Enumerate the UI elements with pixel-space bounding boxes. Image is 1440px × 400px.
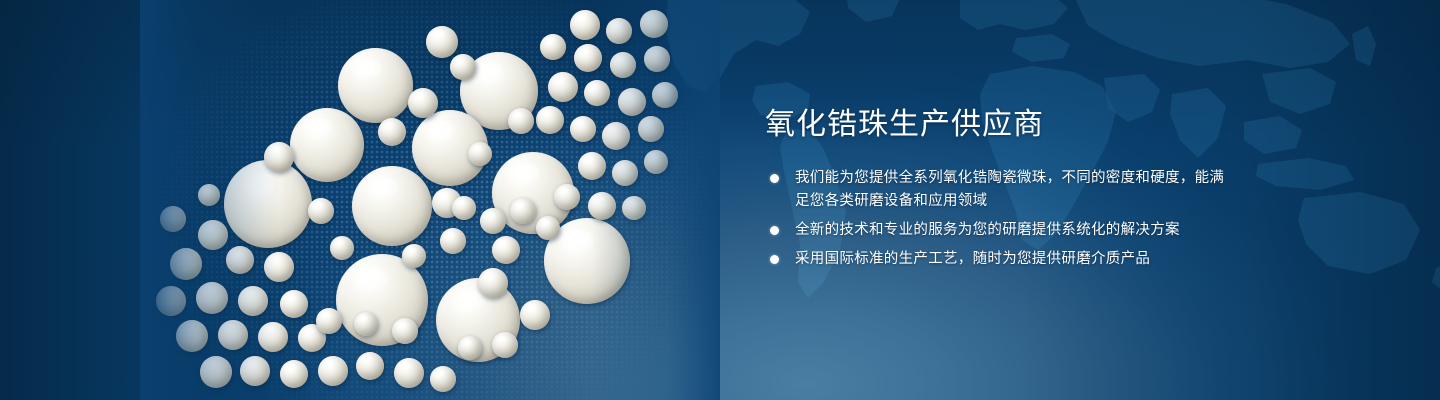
feature-list: 我们能为您提供全系列氧化锆陶瓷微珠，不同的密度和硬度，能满足您各类研磨设备和应用…	[765, 167, 1235, 271]
banner-copy: 氧化锆珠生产供应商 我们能为您提供全系列氧化锆陶瓷微珠，不同的密度和硬度，能满足…	[765, 108, 1235, 277]
list-item-label: 我们能为您提供全系列氧化锆陶瓷微珠，不同的密度和硬度，能满足您各类研磨设备和应用…	[795, 170, 1224, 209]
hero-banner: 氧化锆珠生产供应商 我们能为您提供全系列氧化锆陶瓷微珠，不同的密度和硬度，能满足…	[0, 0, 1440, 400]
zirconia-beads-photo	[140, 0, 720, 400]
bead-cluster	[140, 0, 720, 400]
list-item: 我们能为您提供全系列氧化锆陶瓷微珠，不同的密度和硬度，能满足您各类研磨设备和应用…	[765, 167, 1235, 213]
bullet-dot-icon	[770, 226, 779, 235]
page-title: 氧化锆珠生产供应商	[765, 108, 1235, 143]
list-item-label: 全新的技术和专业的服务为您的研磨提供系统化的解决方案	[795, 222, 1180, 238]
list-item-label: 采用国际标准的生产工艺，随时为您提供研磨介质产品	[795, 251, 1150, 267]
bullet-dot-icon	[770, 255, 779, 264]
list-item: 采用国际标准的生产工艺，随时为您提供研磨介质产品	[765, 248, 1235, 271]
list-item: 全新的技术和专业的服务为您的研磨提供系统化的解决方案	[765, 219, 1235, 242]
bullet-dot-icon	[770, 174, 779, 183]
